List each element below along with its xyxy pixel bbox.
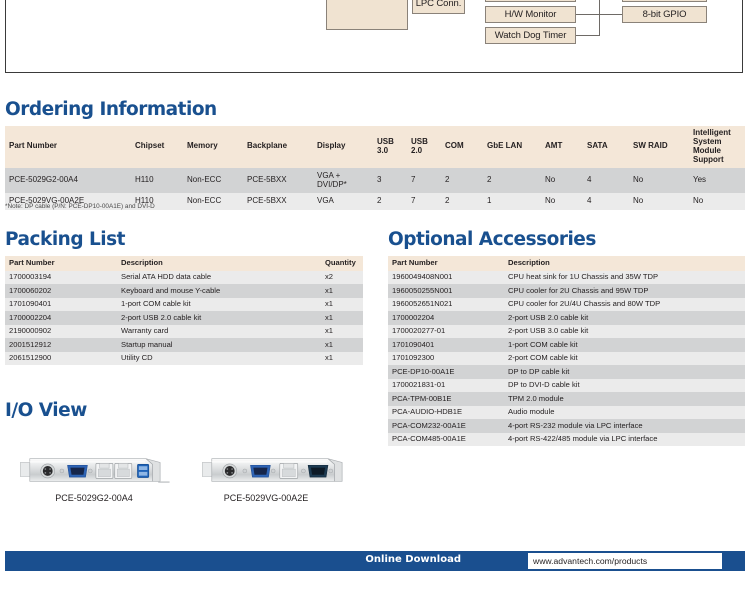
cell-sw-raid: No [629,168,689,194]
diagram-cpu-block [326,0,408,30]
diagram-block-watch-dog-timer: Watch Dog Timer [485,27,576,44]
cell-description: TPM 2.0 module [504,392,745,406]
cell-quantity: x1 [321,325,363,339]
table-row: 1700003194 Serial ATA HDD data cable x2 [5,271,363,285]
table-row: 2190000902 Warranty card x1 [5,325,363,339]
footer-url-text: www.advantech.com/products [533,556,647,566]
cell-usb20: 7 [407,168,441,194]
cell-part-number: PCA-TPM-00B1E [388,392,504,406]
col-description: Description [117,256,321,271]
cell-description: CPU heat sink for 1U Chassis and 35W TDP [504,271,745,285]
col-com: COM [441,126,483,168]
block-diagram-panel: LPC Conn. H/W Monitor Watch Dog Timer 8-… [5,0,743,73]
cell-description: CPU cooler for 2U Chassis and 95W TDP [504,284,745,298]
table-row: PCE-5029G2-00A4 H110 Non-ECC PCE-5BXX VG… [5,168,745,194]
cell-quantity: x1 [321,311,363,325]
cell-description: DP to DVI-D cable kit [504,379,745,393]
cell-part-number: PCA-COM485-00A1E [388,433,504,447]
cell-description: 2-port USB 2.0 cable kit [117,311,321,325]
cell-gbe-lan: 2 [483,168,541,194]
table-header-row: Part Number Chipset Memory Backplane Dis… [5,126,745,168]
cell-description: Serial ATA HDD data cable [117,271,321,285]
table-row: PCA-COM232-00A1E 4-port RS-232 module vi… [388,419,745,433]
table-row: 1701090401 1-port COM cable kit x1 [5,298,363,312]
packing-list-table: Part Number Description Quantity 1700003… [5,256,363,365]
optional-accessories-table: Part Number Description 1960049408N001 C… [388,256,745,446]
footer-online-download-label: Online Download [365,554,461,565]
col-description: Description [504,256,745,271]
io-caption-left: PCE-5029G2-00A4 [14,493,174,503]
cell-part-number: PCA-COM232-00A1E [388,419,504,433]
table-row: PCA-AUDIO-HDB1E Audio module [388,406,745,420]
cell-usb30: 3 [373,168,407,194]
cell-part-number: 1700021831-01 [388,379,504,393]
cell-quantity: x2 [321,271,363,285]
col-display: Display [313,126,373,168]
cell-part-number: 1960052651N021 [388,298,504,312]
col-usb20: USB 2.0 [407,126,441,168]
cell-sw-raid: No [629,193,689,210]
cell-amt: No [541,168,583,194]
table-row: 1700020277-01 2-port USB 3.0 cable kit [388,325,745,339]
table-row: 1960052651N021 CPU cooler for 2U/4U Chas… [388,298,745,312]
cell-description: 2-port USB 2.0 cable kit [504,311,745,325]
cell-part-number: 1700002204 [5,311,117,325]
cell-part-number: 2001512912 [5,338,117,352]
table-row: PCA-COM485-00A1E 4-port RS-422/485 modul… [388,433,745,447]
cell-description: 1-port COM cable kit [504,338,745,352]
diagram-wire-v1 [599,0,600,36]
table-row: 1701092300 2-port COM cable kit [388,352,745,366]
table-row: PCE-DP10-00A1E DP to DP cable kit [388,365,745,379]
table-row: 2061512900 Utility CD x1 [5,352,363,366]
cell-description: Audio module [504,406,745,420]
cell-backplane: PCE-5BXX [243,168,313,194]
cell-description: Startup manual [117,338,321,352]
col-chipset: Chipset [131,126,183,168]
cell-usb20: 7 [407,193,441,210]
cell-quantity: x1 [321,284,363,298]
cell-com: 2 [441,168,483,194]
col-sw-raid: SW RAID [629,126,689,168]
cell-description: 4-port RS-232 module via LPC interface [504,419,745,433]
cell-description: Keyboard and mouse Y-cable [117,284,321,298]
io-caption-right: PCE-5029VG-00A2E [186,493,346,503]
cell-part-number: 2190000902 [5,325,117,339]
io-bracket-image-right [196,453,356,487]
cell-chipset: H110 [131,168,183,194]
cell-com: 2 [441,193,483,210]
section-title-packing: Packing List [5,229,125,250]
cell-part-number: 1700020277-01 [388,325,504,339]
cell-description: Utility CD [117,352,321,366]
col-part-number: Part Number [388,256,504,271]
cell-memory: Non-ECC [183,193,243,210]
cell-part-number: 1701092300 [388,352,504,366]
cell-quantity: x1 [321,298,363,312]
table-row: 2001512912 Startup manual x1 [5,338,363,352]
cell-description: DP to DP cable kit [504,365,745,379]
io-bracket-image-left [14,453,174,487]
section-title-optional: Optional Accessories [388,229,596,250]
table-row: 1960049408N001 CPU heat sink for 1U Chas… [388,271,745,285]
cell-quantity: x1 [321,338,363,352]
section-title-io-view: I/O View [5,400,87,421]
cell-part-number: 2061512900 [5,352,117,366]
cell-ism-support: No [689,193,745,210]
cell-part-number: 1960049408N001 [388,271,504,285]
col-amt: AMT [541,126,583,168]
cell-part-number: 1700003194 [5,271,117,285]
cell-description: CPU cooler for 2U/4U Chassis and 80W TDP [504,298,745,312]
cell-gbe-lan: 1 [483,193,541,210]
table-row: 1960050255N001 CPU cooler for 2U Chassis… [388,284,745,298]
cell-description: 2-port COM cable kit [504,352,745,366]
cell-part-number: 1701090401 [388,338,504,352]
cell-display: VGA + DVI/DP* [313,168,373,194]
cell-part-number: 1701090401 [5,298,117,312]
cell-sata: 4 [583,168,629,194]
cell-amt: No [541,193,583,210]
diagram-block-label: H/W Monitor [505,10,557,20]
table-row: 1700060202 Keyboard and mouse Y-cable x1 [5,284,363,298]
col-memory: Memory [183,126,243,168]
table-row: 1700002204 2-port USB 2.0 cable kit x1 [5,311,363,325]
cell-ism-support: Yes [689,168,745,194]
table-header-row: Part Number Description Quantity [5,256,363,271]
cell-description: Warranty card [117,325,321,339]
cell-backplane: PCE-5BXX [243,193,313,210]
diagram-block-partial-top-right [622,0,707,2]
cell-display: VGA [313,193,373,210]
diagram-block-8bit-gpio: 8-bit GPIO [622,6,707,23]
cell-sata: 4 [583,193,629,210]
cell-usb30: 2 [373,193,407,210]
col-gbe-lan: GbE LAN [483,126,541,168]
col-sata: SATA [583,126,629,168]
cell-part-number: PCE-5029G2-00A4 [5,168,131,194]
col-usb30: USB 3.0 [373,126,407,168]
diagram-block-label: LPC Conn. [416,0,462,9]
footer-url-box[interactable]: www.advantech.com/products [528,553,722,569]
diagram-block-label: Watch Dog Timer [495,31,567,41]
cell-description: 1-port COM cable kit [117,298,321,312]
table-row: PCA-TPM-00B1E TPM 2.0 module [388,392,745,406]
table-row: 1700021831-01 DP to DVI-D cable kit [388,379,745,393]
diagram-wire-h2 [576,35,600,36]
diagram-block-label: 8-bit GPIO [643,10,687,20]
col-part-number: Part Number [5,256,117,271]
cell-part-number: 1960050255N001 [388,284,504,298]
diagram-block-lpc-conn: LPC Conn. [412,0,465,14]
diagram-block-partial-top-left [485,0,576,2]
col-ism-support: Intelligent System Module Support [689,126,745,168]
ordering-table-note: *Note: DP cable (P/N: PCE-DP10-00A1E) an… [5,203,155,210]
section-title-ordering: Ordering Information [5,99,217,120]
cell-part-number: 1700060202 [5,284,117,298]
cell-description: 2-port USB 3.0 cable kit [504,325,745,339]
col-quantity: Quantity [321,256,363,271]
cell-part-number: PCE-DP10-00A1E [388,365,504,379]
cell-description: 4-port RS-422/485 module via LPC interfa… [504,433,745,447]
diagram-block-hw-monitor: H/W Monitor [485,6,576,23]
cell-part-number: 1700002204 [388,311,504,325]
table-row: 1701090401 1-port COM cable kit [388,338,745,352]
col-backplane: Backplane [243,126,313,168]
table-header-row: Part Number Description [388,256,745,271]
cell-part-number: PCA-AUDIO-HDB1E [388,406,504,420]
cell-quantity: x1 [321,352,363,366]
table-row: 1700002204 2-port USB 2.0 cable kit [388,311,745,325]
ordering-information-table: Part Number Chipset Memory Backplane Dis… [5,126,745,210]
col-part-number: Part Number [5,126,131,168]
cell-memory: Non-ECC [183,168,243,194]
